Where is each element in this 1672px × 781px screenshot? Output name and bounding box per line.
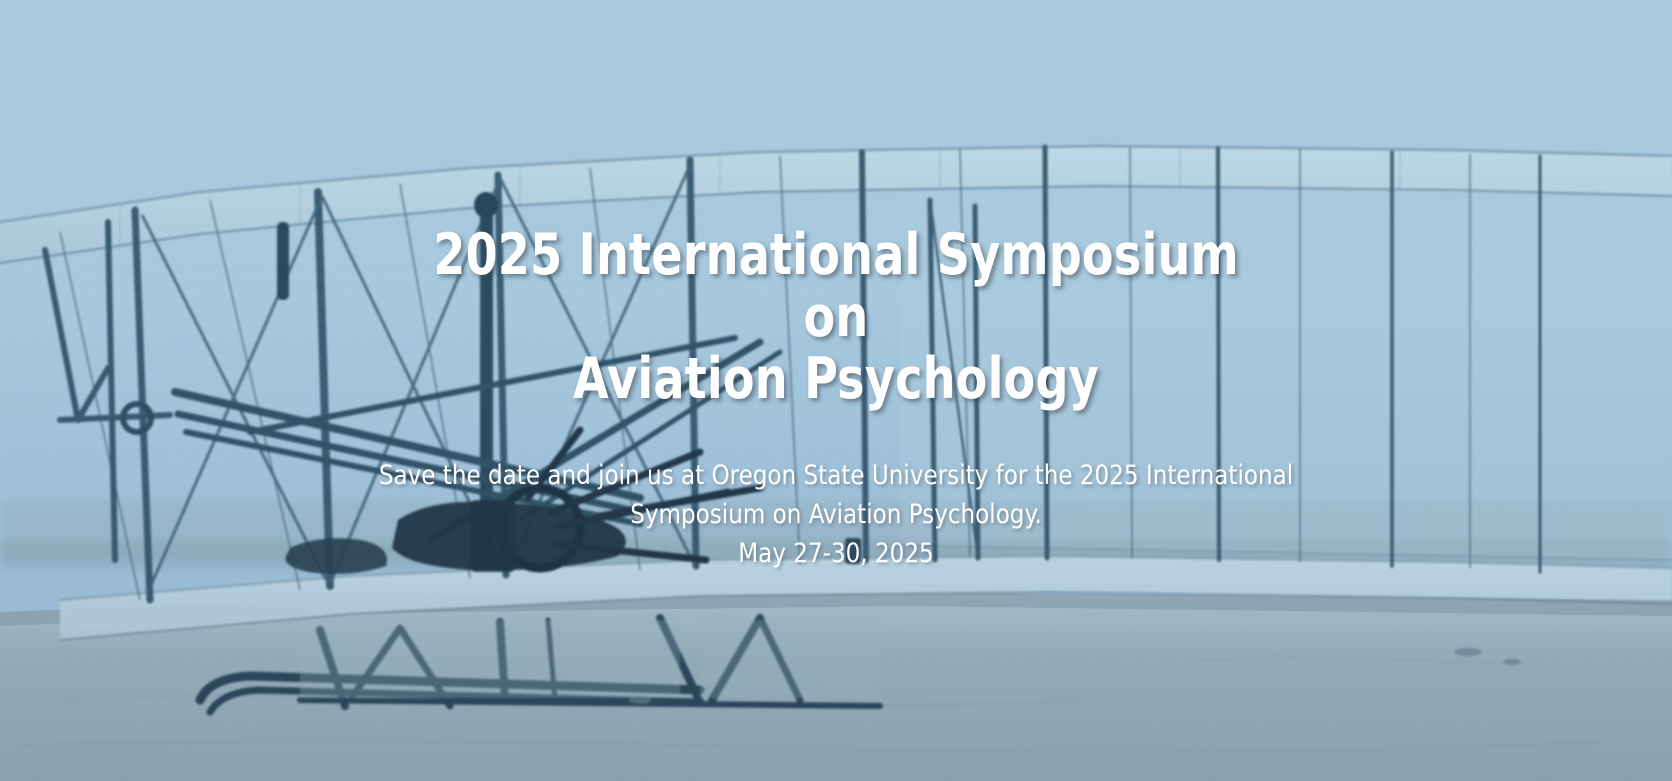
hero-banner: 2025 International Symposium on Aviation… (0, 0, 1672, 781)
hero-subtitle-line-2: Symposium on Aviation Psychology. (361, 495, 1311, 534)
page-title-line-2: Aviation Psychology (431, 348, 1241, 410)
hero-subtitle: Save the date and join us at Oregon Stat… (361, 456, 1311, 573)
hero-subtitle-line-1: Save the date and join us at Oregon Stat… (361, 456, 1311, 495)
hero-event-date: May 27-30, 2025 (361, 534, 1311, 573)
hero-content: 2025 International Symposium on Aviation… (0, 0, 1672, 781)
page-title-line-1: 2025 International Symposium on (431, 224, 1241, 348)
page-title: 2025 International Symposium on Aviation… (431, 224, 1241, 410)
